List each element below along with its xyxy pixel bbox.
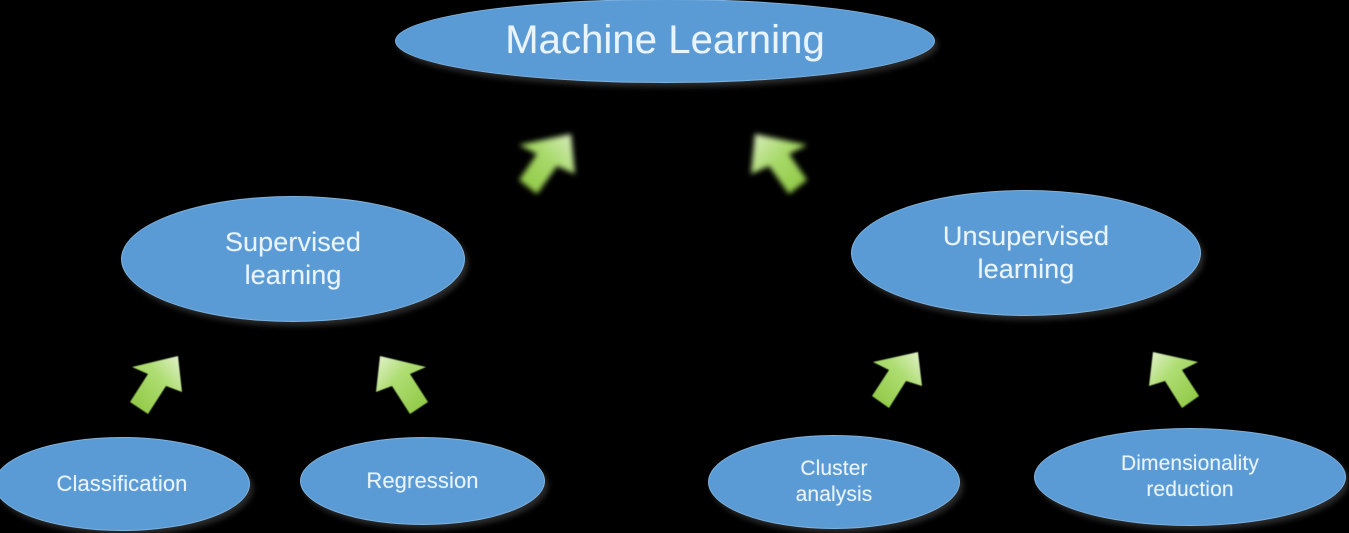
arrow-sup-to-regression-icon [370,352,436,422]
arrow-sup-to-classification-icon [122,352,188,422]
node-supervised-learning[interactable]: Supervised learning [121,196,465,322]
diagram-canvas: Machine Learning [0,0,1349,533]
arrow-ml-to-unsupervised-icon [745,128,823,200]
arrow-unsup-to-dimred-icon [1143,348,1207,416]
node-unsupervised-learning[interactable]: Unsupervised learning [851,190,1201,316]
arrow-unsup-to-cluster-icon [864,348,928,416]
node-label-regression: Regression [360,467,484,494]
node-cluster-analysis[interactable]: Cluster analysis [708,435,960,529]
node-label-dimensionality-reduction: Dimensionality reduction [1115,451,1265,503]
arrow-ml-to-supervised-icon [503,128,581,200]
node-classification[interactable]: Classification [0,437,250,531]
node-dimensionality-reduction[interactable]: Dimensionality reduction [1034,428,1346,526]
node-machine-learning[interactable]: Machine Learning [395,0,935,83]
node-label-cluster-analysis: Cluster analysis [790,456,879,508]
node-regression[interactable]: Regression [300,437,545,525]
node-label-machine-learning: Machine Learning [499,16,831,66]
node-label-supervised-learning: Supervised learning [219,226,367,293]
node-label-unsupervised-learning: Unsupervised learning [937,220,1115,287]
node-label-classification: Classification [50,470,193,497]
